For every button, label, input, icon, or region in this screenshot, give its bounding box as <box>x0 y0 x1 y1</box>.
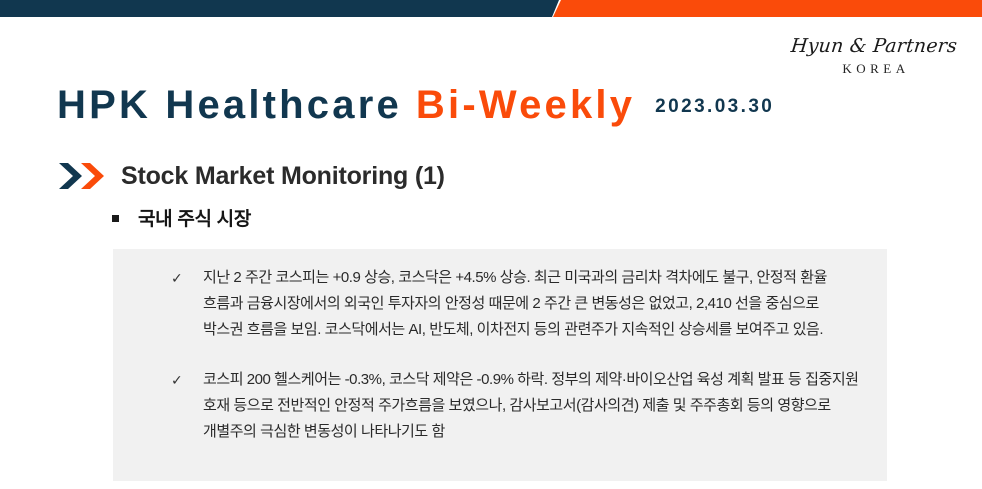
list-item-text: 코스피 200 헬스케어는 -0.3%, 코스닥 제약은 -0.9% 하락. 정… <box>203 367 859 445</box>
header-decoration-bar <box>0 0 982 17</box>
brand-logo: Hyun & Partners KOREA <box>774 34 974 78</box>
content-panel-inner: ✓ 지난 2 주간 코스피는 +0.9 상승, 코스닥은 +4.5% 상승. 최… <box>113 249 887 461</box>
list-item: ✓ 코스피 200 헬스케어는 -0.3%, 코스닥 제약은 -0.9% 하락.… <box>171 367 859 445</box>
section-subheading-text: 국내 주식 시장 <box>138 204 251 231</box>
check-icon: ✓ <box>171 367 187 393</box>
list-item-text: 지난 2 주간 코스피는 +0.9 상승, 코스닥은 +4.5% 상승. 최근 … <box>203 265 859 343</box>
check-icon: ✓ <box>171 265 187 291</box>
brand-logo-subtitle: KOREA <box>774 60 974 78</box>
section-heading-text: Stock Market Monitoring (1) <box>121 162 445 191</box>
section-heading: Stock Market Monitoring (1) <box>58 161 445 191</box>
brand-logo-script: Hyun & Partners <box>773 34 976 58</box>
navy-band-shape <box>0 0 559 17</box>
title-date: 2023.03.30 <box>655 96 774 118</box>
title-main-text: HPK Healthcare <box>57 83 402 127</box>
orange-band-shape <box>553 0 982 17</box>
square-bullet-icon <box>112 215 119 222</box>
content-panel: ✓ 지난 2 주간 코스피는 +0.9 상승, 코스닥은 +4.5% 상승. 최… <box>113 249 887 481</box>
double-chevron-icon <box>58 161 107 191</box>
title-accent-text: Bi-Weekly <box>416 83 635 127</box>
page-title: HPK Healthcare Bi-Weekly 2023.03.30 <box>57 83 774 127</box>
section-subheading: 국내 주식 시장 <box>112 204 251 231</box>
slide-canvas: Hyun & Partners KOREA HPK Healthcare Bi-… <box>0 0 982 489</box>
list-item: ✓ 지난 2 주간 코스피는 +0.9 상승, 코스닥은 +4.5% 상승. 최… <box>171 265 859 343</box>
